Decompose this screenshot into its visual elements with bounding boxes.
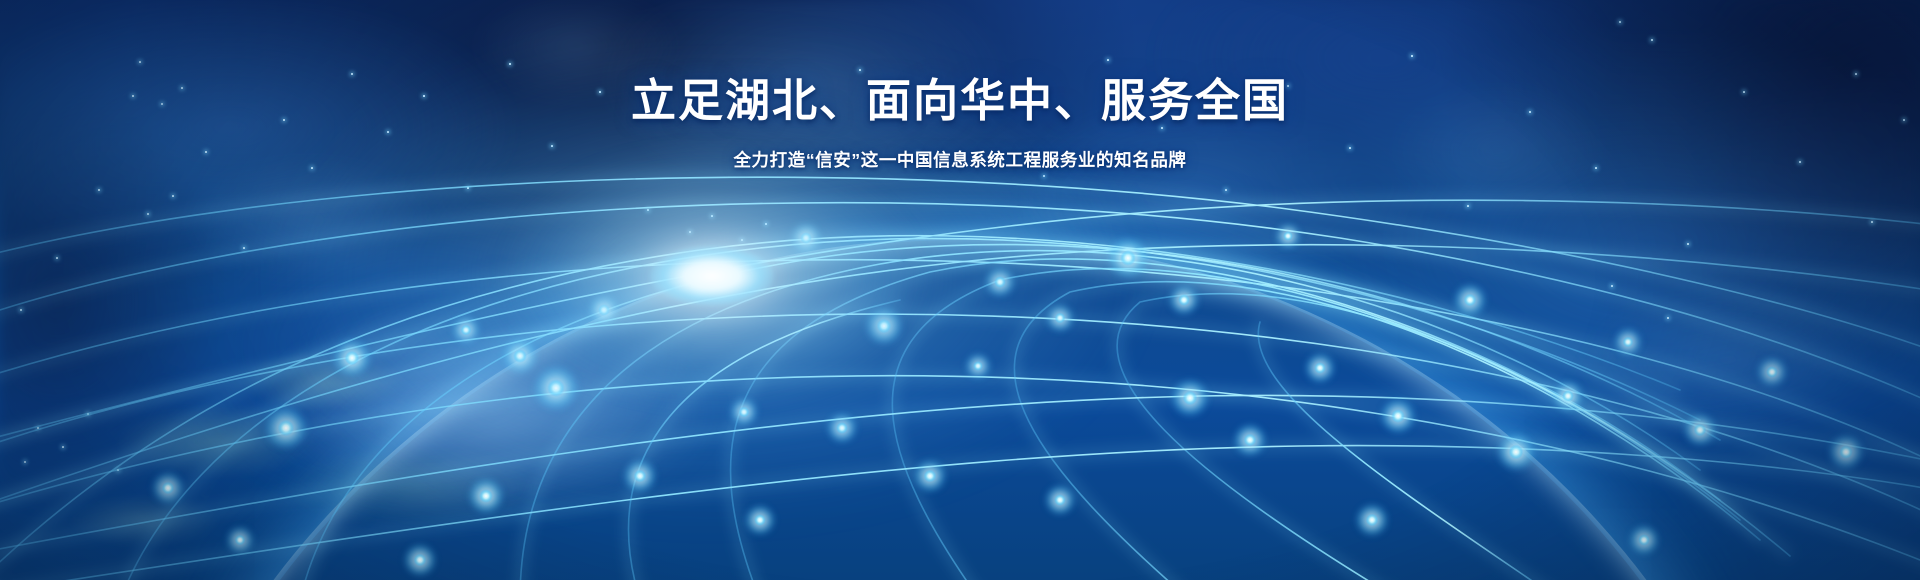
banner-copy: 立足湖北、面向华中、服务全国 全力打造“信安”这一中国信息系统工程服务业的知名品… xyxy=(0,78,1920,172)
banner-subheadline: 全力打造“信安”这一中国信息系统工程服务业的知名品牌 xyxy=(0,147,1920,172)
hero-banner: 立足湖北、面向华中、服务全国 全力打造“信安”这一中国信息系统工程服务业的知名品… xyxy=(0,0,1920,580)
flare-core xyxy=(650,246,774,306)
banner-headline: 立足湖北、面向华中、服务全国 xyxy=(0,78,1920,123)
